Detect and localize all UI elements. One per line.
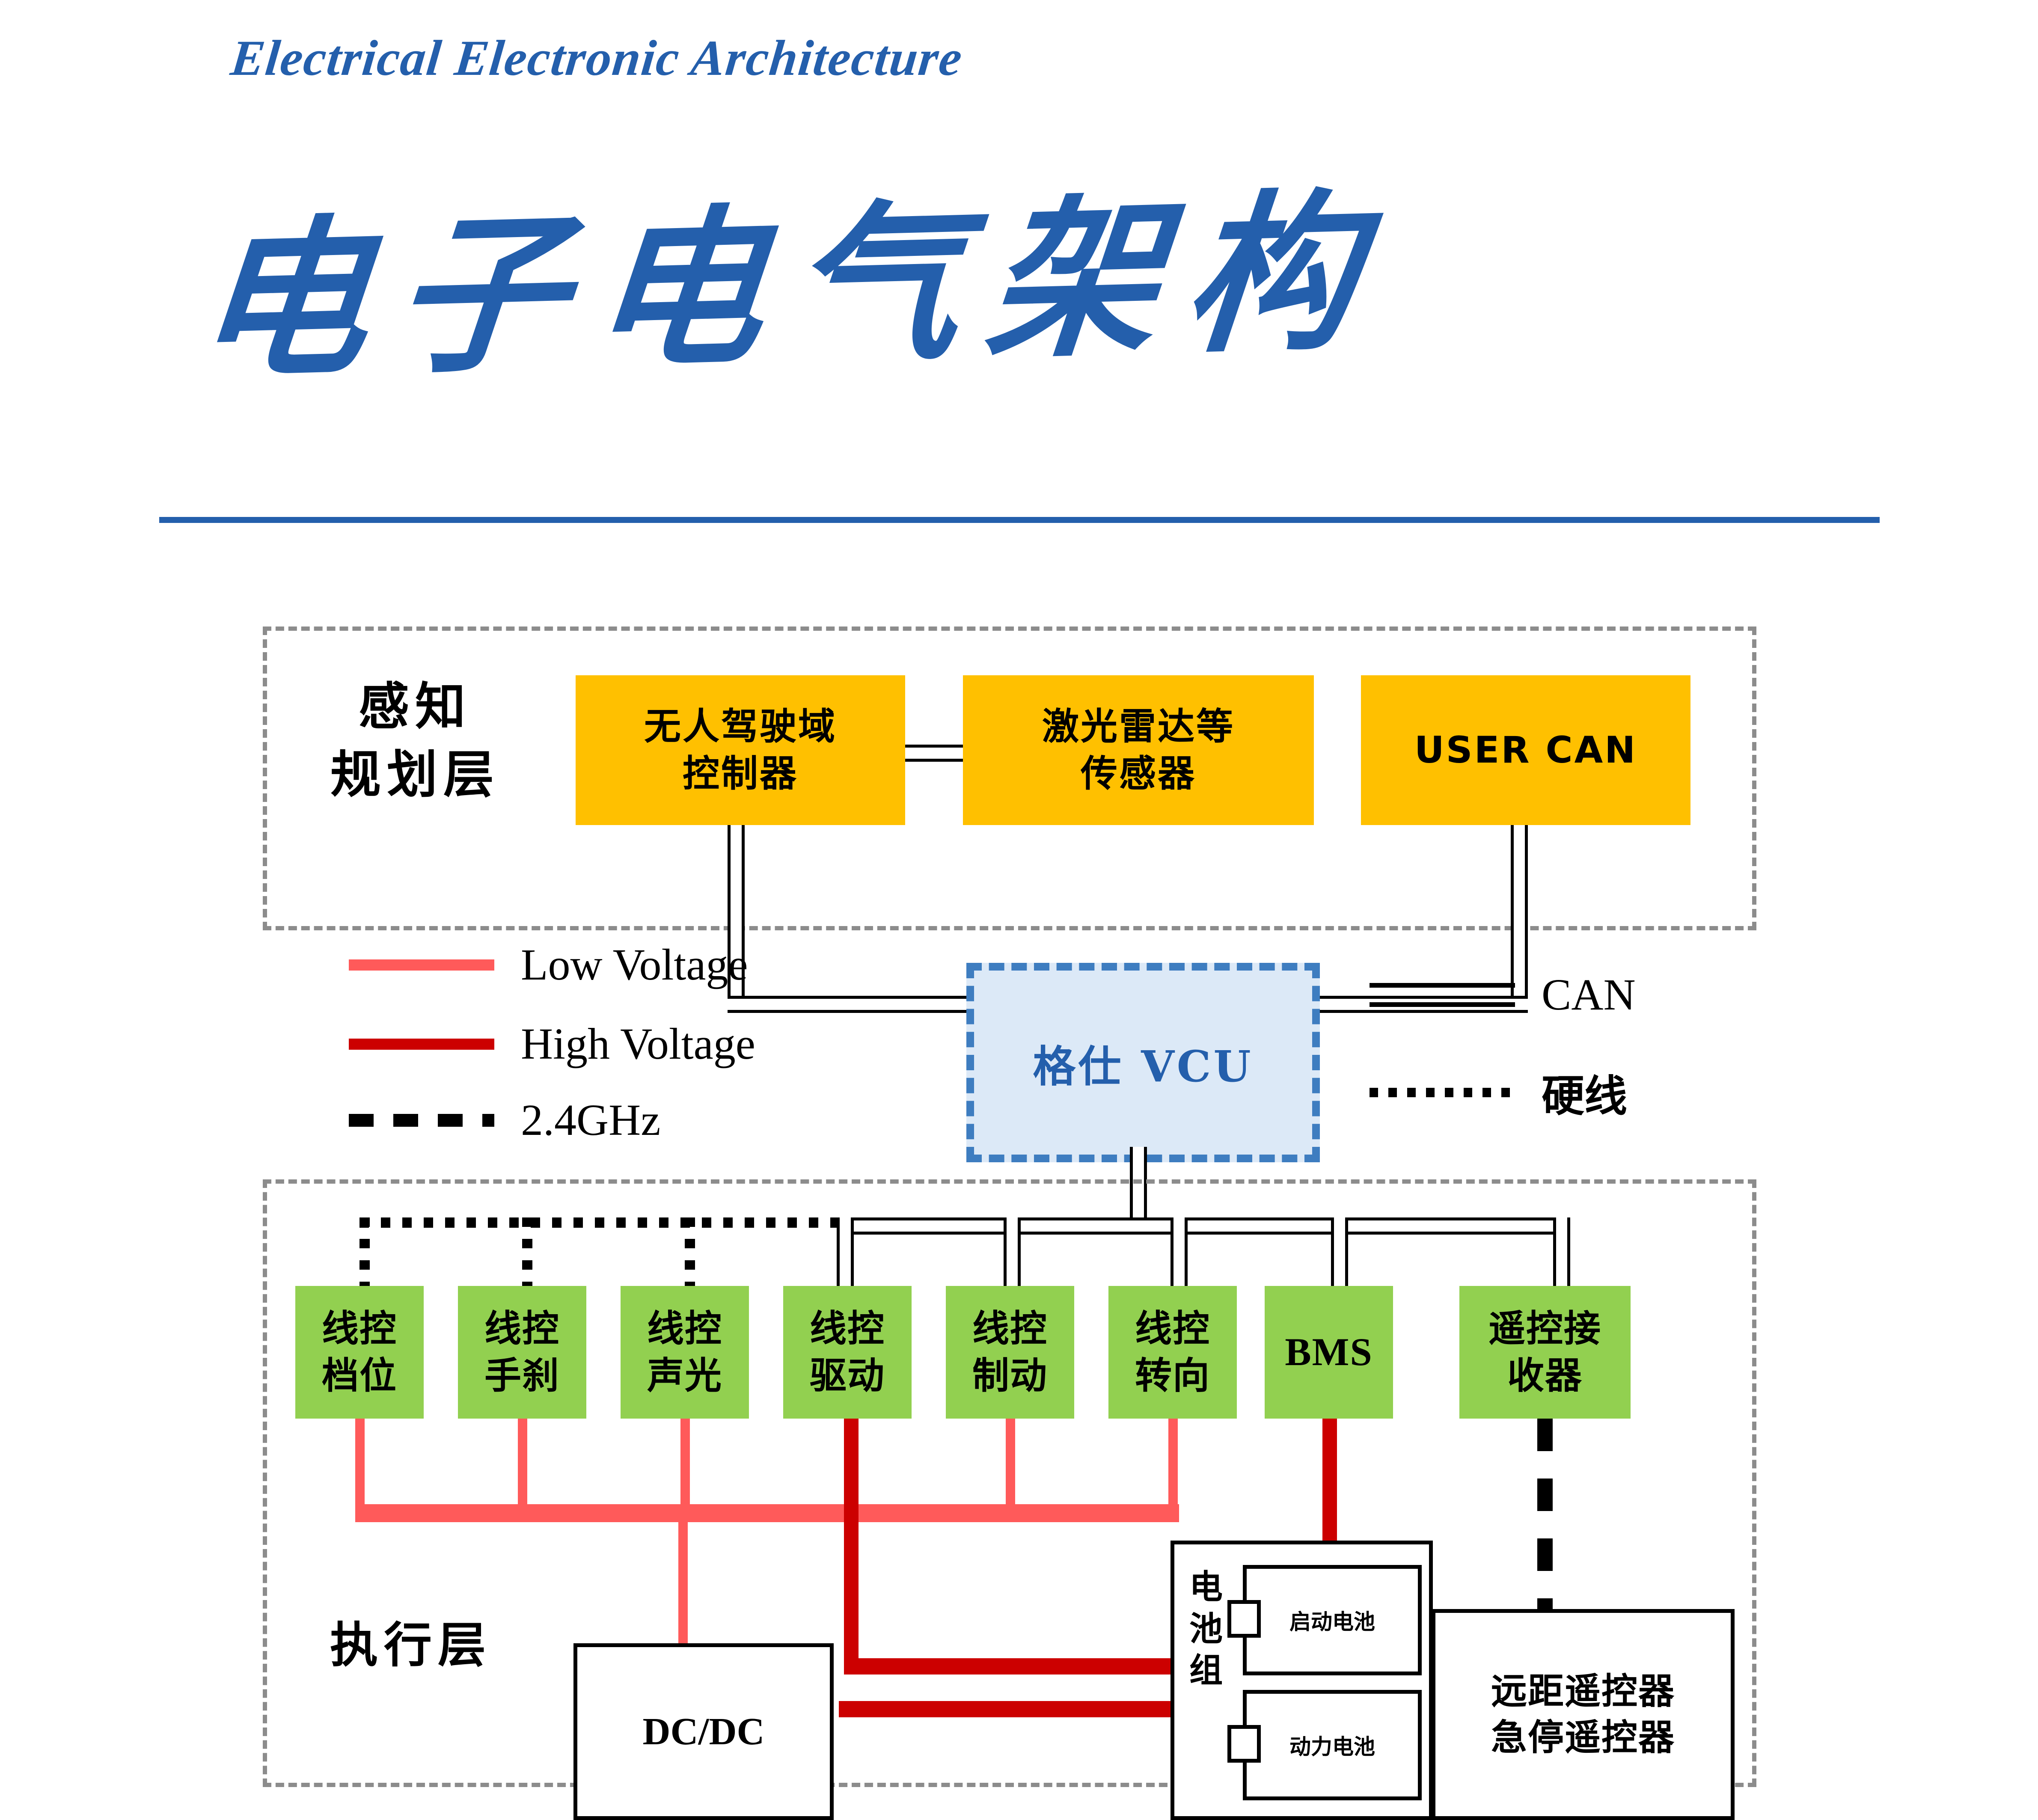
battery-cell-traction: 动力电池 — [1243, 1690, 1422, 1800]
wire-hardwire-to-handbrake — [522, 1217, 532, 1286]
low-voltage-swatch — [349, 959, 494, 971]
node-adas-domain-controller[interactable]: 无人驾驶域 控制器 — [576, 675, 905, 825]
node-drive-by-wire-gear[interactable]: 线控 档位 — [295, 1286, 424, 1419]
hardwire-label: 硬线 — [1542, 1061, 1627, 1123]
legend-hardwire: 硬线 — [1370, 1061, 1627, 1123]
wire-can-to-steer — [1171, 1217, 1188, 1286]
wire-hv-drive-down — [844, 1419, 859, 1671]
wire-lv-bus — [355, 1504, 1179, 1522]
wire-can-adas-to-lidar — [905, 745, 963, 762]
page-title: 电子电气架构 — [190, 186, 1391, 388]
wire-hardwire-bus — [359, 1217, 837, 1228]
high-voltage-swatch — [349, 1039, 494, 1050]
wire-lv-to-dcdc — [678, 1522, 688, 1646]
node-battery-pack[interactable]: 电 池 组 启动电池 动力电池 — [1171, 1541, 1433, 1820]
can-bus-swatch — [1370, 983, 1515, 1007]
wireless-24ghz-label: 2.4GHz — [521, 1095, 660, 1146]
high-voltage-label: High Voltage — [521, 1018, 755, 1069]
can-bus-label: CAN — [1542, 969, 1636, 1020]
wire-can-to-remote-receiver — [1553, 1217, 1570, 1286]
wire-can-exec-bus — [837, 1217, 1564, 1235]
legend-high-voltage: High Voltage — [349, 1018, 755, 1069]
legend-24ghz: 2.4GHz — [349, 1095, 660, 1146]
wire-lv-steer — [1168, 1419, 1178, 1514]
legend-low-voltage: Low Voltage — [349, 939, 748, 990]
execution-layer-label: 执行层 — [317, 1613, 505, 1678]
wire-can-to-drive — [837, 1217, 854, 1286]
low-voltage-label: Low Voltage — [521, 939, 748, 990]
hardwire-swatch — [1370, 1088, 1515, 1097]
english-title: Electrical Electronic Architecture — [228, 29, 966, 87]
node-drive-by-wire-brake[interactable]: 线控 制动 — [946, 1286, 1074, 1419]
wireless-24ghz-swatch — [349, 1114, 494, 1127]
wire-can-to-bms — [1331, 1217, 1348, 1286]
wire-hv-bms-to-battery — [1322, 1419, 1337, 1543]
wire-hardwire-to-audio — [685, 1217, 695, 1286]
battery-cell-starter: 启动电池 — [1243, 1565, 1422, 1675]
node-dcdc[interactable]: DC/DC — [573, 1643, 834, 1820]
wire-lv-audio — [680, 1419, 690, 1514]
node-vcu[interactable]: 格仕 VCU — [966, 963, 1320, 1162]
node-drive-by-wire-drive[interactable]: 线控 驱动 — [783, 1286, 912, 1419]
wire-lv-handbrake — [518, 1419, 527, 1514]
battery-terminal-starter-icon — [1227, 1600, 1261, 1638]
wire-lv-brake — [1006, 1419, 1015, 1514]
legend-can: CAN — [1370, 969, 1636, 1020]
perception-layer-label: 感知 规划层 — [325, 673, 505, 809]
wire-hv-dcdc-to-battery — [839, 1701, 1181, 1717]
wire-24ghz-receiver-to-remote — [1537, 1419, 1553, 1615]
node-user-can[interactable]: USER CAN — [1361, 675, 1690, 825]
node-drive-by-wire-steer[interactable]: 线控 转向 — [1108, 1286, 1237, 1419]
battery-pack-label: 电 池 组 — [1185, 1567, 1227, 1692]
battery-terminal-traction-icon — [1227, 1725, 1261, 1763]
node-remote-controller[interactable]: 远距遥控器 急停遥控器 — [1432, 1609, 1735, 1820]
node-drive-by-wire-audio[interactable]: 线控 声光 — [621, 1286, 749, 1419]
wire-hardwire-to-gear — [359, 1217, 370, 1286]
node-bms[interactable]: BMS — [1265, 1286, 1393, 1419]
title-divider — [159, 517, 1880, 523]
wire-can-to-brake — [1004, 1217, 1021, 1286]
wire-lv-gear — [355, 1419, 365, 1514]
node-lidar-sensors[interactable]: 激光雷达等 传感器 — [963, 675, 1314, 825]
node-remote-receiver[interactable]: 遥控接 收器 — [1459, 1286, 1631, 1419]
wire-hv-drive-to-battery — [844, 1658, 1178, 1675]
node-drive-by-wire-handbrake[interactable]: 线控 手刹 — [458, 1286, 586, 1419]
